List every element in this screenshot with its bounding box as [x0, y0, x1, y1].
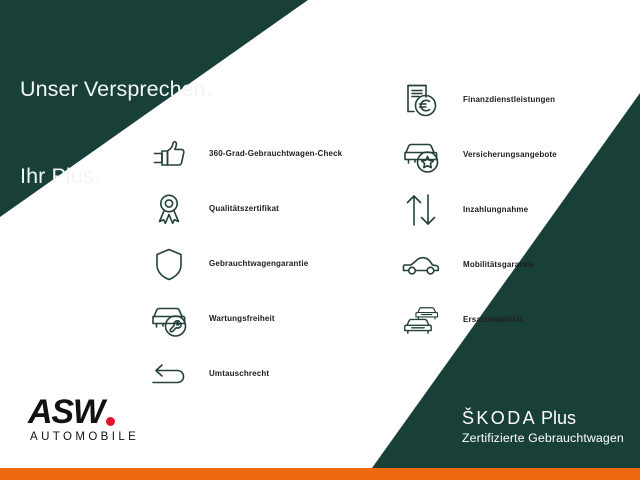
feature-label: Inzahlungnahme — [463, 205, 528, 214]
skoda-brand-text: ŠKODA — [462, 408, 537, 428]
car-wrench-icon — [146, 296, 192, 342]
feature-list-right: Finanzdienstleistungen Versicherungsange… — [398, 72, 633, 347]
feature-item: 360-Grad-Gebrauchtwagen-Check — [146, 126, 376, 181]
feature-item: Wartungsfreiheit — [146, 291, 376, 346]
feature-item: Gebrauchtwagengarantie — [146, 236, 376, 291]
feature-item: Mobilitätsgarantie — [398, 237, 633, 292]
promo-banner: Unser Versprechen. Ihr Plus. 360-Grad-Ge… — [0, 0, 640, 480]
up-down-arrows-icon — [398, 187, 444, 233]
asw-wordmark-row: ASW — [28, 395, 148, 429]
feature-label: Ersatzmobilität — [463, 315, 523, 324]
feature-label: Mobilitätsgarantie — [463, 260, 534, 269]
feature-item: Ersatzmobilität — [398, 292, 633, 347]
feature-label: 360-Grad-Gebrauchtwagen-Check — [209, 149, 342, 158]
feature-label: Finanzdienstleistungen — [463, 95, 555, 104]
car-star-icon — [398, 132, 444, 178]
feature-label: Gebrauchtwagengarantie — [209, 259, 308, 268]
feature-item: Inzahlungnahme — [398, 182, 633, 237]
return-arrow-icon — [146, 351, 192, 397]
skoda-plus-logo: ŠKODAPlus Zertifizierte Gebrauchtwagen — [462, 408, 624, 446]
award-rosette-icon — [146, 186, 192, 232]
feature-label: Versicherungsangebote — [463, 150, 557, 159]
page-title-line1: Unser Versprechen. — [20, 75, 212, 104]
orange-bottom-bar — [0, 468, 640, 480]
skoda-plus-text: Plus — [541, 408, 576, 428]
feature-list-left: 360-Grad-Gebrauchtwagen-Check Qualitätsz… — [146, 126, 376, 401]
skoda-brand-row: ŠKODAPlus — [462, 408, 624, 429]
car-side-icon — [398, 242, 444, 288]
document-euro-icon — [398, 77, 444, 123]
feature-label: Qualitätszertifikat — [209, 204, 279, 213]
asw-subtitle: AUTOMOBILE — [30, 431, 148, 443]
feature-item: Qualitätszertifikat — [146, 181, 376, 236]
feature-label: Wartungsfreiheit — [209, 314, 275, 323]
thumbs-up-icon — [146, 131, 192, 177]
red-dot-icon — [106, 417, 115, 426]
feature-item: Umtauschrecht — [146, 346, 376, 401]
shield-icon — [146, 241, 192, 287]
asw-logo: ASW AUTOMOBILE — [28, 395, 148, 443]
skoda-tagline: Zertifizierte Gebrauchtwagen — [462, 430, 624, 446]
two-cars-icon — [398, 297, 444, 343]
feature-item: Finanzdienstleistungen — [398, 72, 633, 127]
feature-label: Umtauschrecht — [209, 369, 269, 378]
asw-wordmark-text: ASW — [28, 395, 104, 429]
feature-item: Versicherungsangebote — [398, 127, 633, 182]
